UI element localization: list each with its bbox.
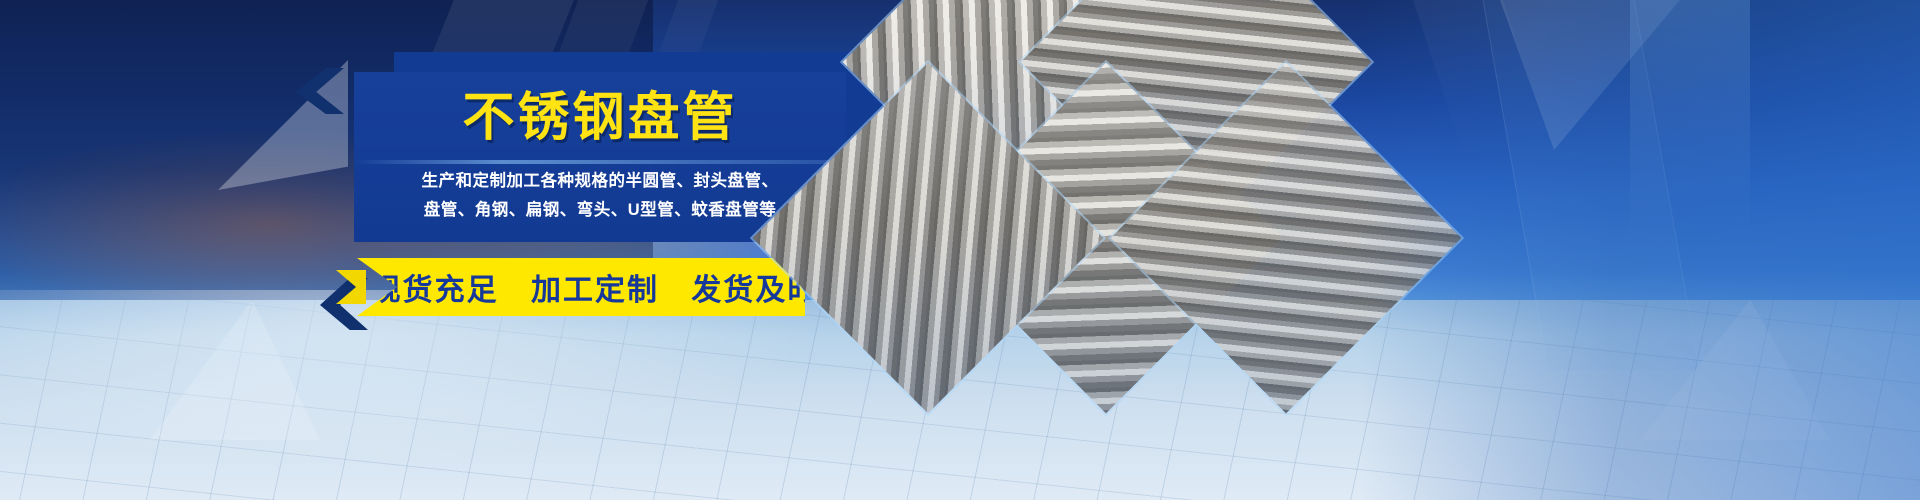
product-banner: 不锈钢盘管 生产和定制加工各种规格的半圆管、封头盘管、 盘管、角钢、扁钢、弯头、… bbox=[0, 0, 1920, 500]
page-title: 不锈钢盘管 bbox=[354, 92, 846, 144]
feature-ribbon: 现货充足 加工定制 发货及时 bbox=[357, 258, 805, 316]
subtitle-line-1: 生产和定制加工各种规格的半圆管、封头盘管、 bbox=[354, 167, 846, 196]
product-photo-collage bbox=[830, 0, 1390, 500]
city-silhouette-right bbox=[1630, 0, 1750, 240]
headline-panel-divider bbox=[354, 160, 846, 164]
ribbon-text: 现货充足 加工定制 发货及时 bbox=[332, 265, 831, 309]
ribbon-item-2: 加工定制 bbox=[531, 274, 659, 307]
